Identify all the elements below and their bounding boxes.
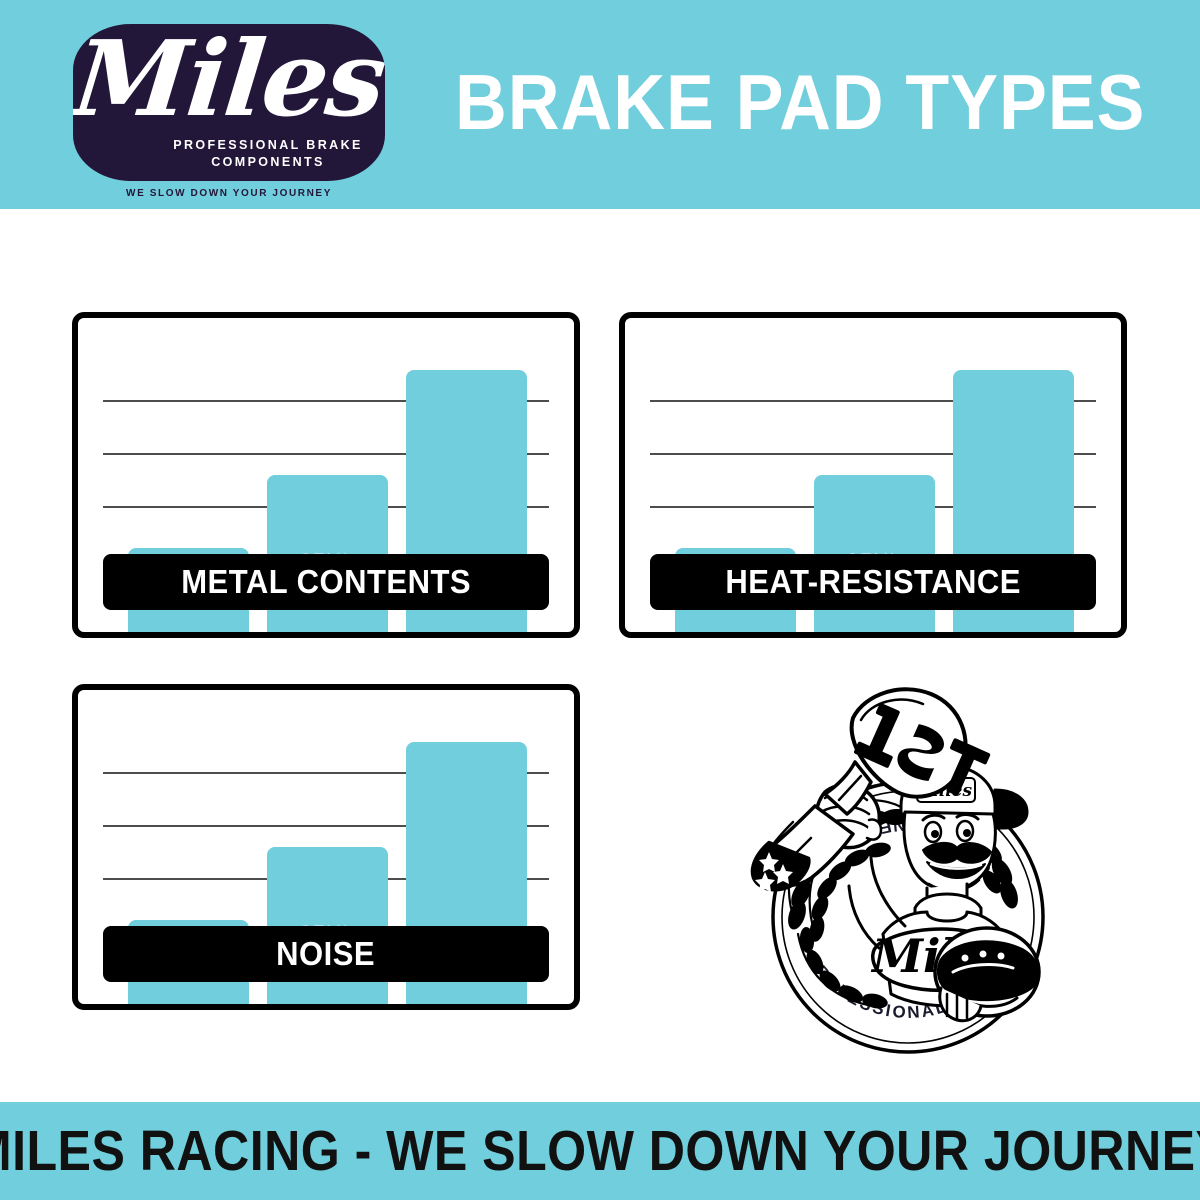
chart-panel-metal-contents: ORGANIC SEMI- METALLIC SINTERED METAL CO… bbox=[72, 312, 580, 638]
plot-area-heat-resistance: ORGANIC SEMI- METALLIC SINTERED HEAT-RES… bbox=[625, 318, 1121, 632]
infographic-page: Miles PROFESSIONAL BRAKE COMPONENTS WE S… bbox=[0, 0, 1200, 1200]
footer-tagline: MILES RACING - WE SLOW DOWN YOUR JOURNEY bbox=[0, 1118, 1200, 1184]
chart-footer-heat-resistance: HEAT-RESISTANCE bbox=[650, 554, 1096, 610]
chart-panel-noise: ORGANIC SEMI- METALLIC SINTERED NOISE bbox=[72, 684, 580, 1010]
logo-tagline: WE SLOW DOWN YOUR JOURNEY bbox=[73, 188, 385, 199]
logo-wordmark: Miles bbox=[73, 24, 385, 141]
plot-area-noise: ORGANIC SEMI- METALLIC SINTERED NOISE bbox=[78, 690, 574, 1004]
chart-title-heat-resistance: HEAT-RESISTANCE bbox=[725, 563, 1020, 601]
page-title: BRAKE PAD TYPES bbox=[455, 52, 1099, 152]
chart-footer-metal-contents: METAL CONTENTS bbox=[103, 554, 549, 610]
header-band: Miles PROFESSIONAL BRAKE COMPONENTS WE S… bbox=[0, 0, 1200, 209]
chart-title-noise: NOISE bbox=[277, 935, 376, 973]
chart-footer-noise: NOISE bbox=[103, 926, 549, 982]
chart-title-metal-contents: METAL CONTENTS bbox=[181, 563, 471, 601]
mascot-illustration: PROFESSIONAL BRAKE COMPONENTS bbox=[665, 672, 1075, 1062]
plot-area-metal-contents: ORGANIC SEMI- METALLIC SINTERED METAL CO… bbox=[78, 318, 574, 632]
logo-box: Miles PROFESSIONAL BRAKE COMPONENTS bbox=[73, 24, 385, 181]
chart-panel-heat-resistance: ORGANIC SEMI- METALLIC SINTERED HEAT-RES… bbox=[619, 312, 1127, 638]
mascot-racer-with-trophy-icon: PROFESSIONAL BRAKE COMPONENTS bbox=[665, 672, 1075, 1062]
logo-subtitle-line-1: PROFESSIONAL BRAKE bbox=[73, 138, 385, 152]
footer-band: MILES RACING - WE SLOW DOWN YOUR JOURNEY bbox=[0, 1102, 1200, 1200]
logo-subtitle-line-2: COMPONENTS bbox=[73, 155, 385, 169]
brand-logo: Miles PROFESSIONAL BRAKE COMPONENTS WE S… bbox=[73, 24, 385, 206]
